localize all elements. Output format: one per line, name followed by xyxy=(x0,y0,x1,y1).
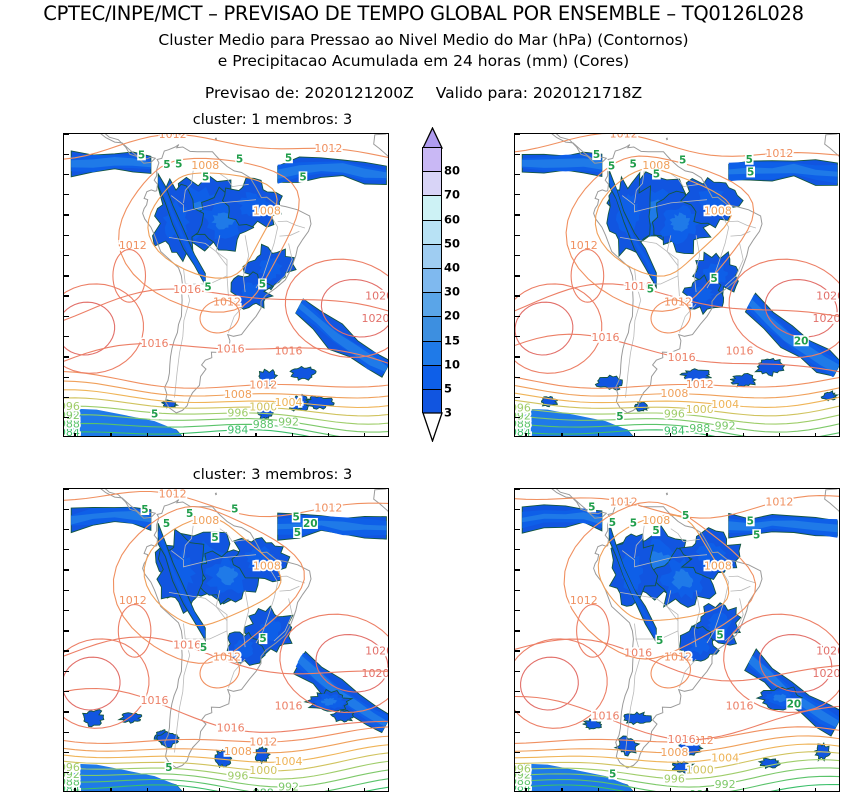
pressure-contour-label: 1012 xyxy=(765,147,793,160)
x-axis-tick xyxy=(634,433,635,437)
pressure-contour-label: 1008 xyxy=(704,560,732,573)
pressure-contour-label: 1012 xyxy=(610,495,638,508)
pressure-contour-label: 1012 xyxy=(765,495,793,508)
x-axis-tick xyxy=(110,788,111,792)
precip-contour-label: 5 xyxy=(588,501,595,513)
colorbar-segment xyxy=(423,196,441,220)
x-axis-tick xyxy=(147,788,148,792)
coastline-island xyxy=(215,493,216,495)
pressure-contour-label: 1016 xyxy=(173,638,201,651)
precip-contour-label: 5 xyxy=(141,504,148,516)
pressure-contour-label: 1020 xyxy=(816,290,840,303)
y-axis-tick xyxy=(515,711,520,712)
y-axis-tick xyxy=(64,154,69,155)
y-axis-tick xyxy=(64,711,69,712)
precip-contour-band xyxy=(730,373,756,386)
colorbar-segment xyxy=(423,221,441,245)
country-border xyxy=(731,586,751,591)
pressure-contour-1016 xyxy=(64,284,143,373)
coastline-africa xyxy=(825,489,840,517)
x-axis-tick xyxy=(292,788,293,792)
precip-contour-label: 5 xyxy=(231,504,238,516)
x-axis-tick xyxy=(779,433,780,437)
x-axis-tick xyxy=(183,788,184,792)
map-panel-cluster-1[interactable]: cluster: 1 membros: 39849849849849889889… xyxy=(63,133,389,437)
precip-contour-label: 5 xyxy=(608,160,615,172)
colorbar-tick-label: 50 xyxy=(444,238,460,250)
plot-area[interactable]: 9849849849849889889889889929929929929969… xyxy=(514,133,840,437)
y-axis-tick xyxy=(64,377,69,378)
precip-contour-label: 5 xyxy=(175,159,182,171)
y-axis-tick xyxy=(64,772,69,773)
plot-area[interactable]: 9849849849849889889889889929929929929969… xyxy=(63,133,389,437)
pressure-contour-label: 1012 xyxy=(686,378,714,391)
pressure-contour-label: 1020 xyxy=(362,312,389,325)
pressure-contour-label: 1016 xyxy=(275,699,303,712)
y-axis-tick xyxy=(64,569,69,570)
precipitation-colorbar: 80706050403020151053 xyxy=(422,127,492,455)
colorbar-over-arrow xyxy=(422,127,444,149)
y-axis-tick xyxy=(64,590,69,591)
x-axis-tick xyxy=(183,433,184,437)
precip-contour-label: 5 xyxy=(236,153,243,165)
y-axis-tick xyxy=(64,509,69,510)
pressure-contour-1016 xyxy=(571,250,604,303)
precip-contour-label: 5 xyxy=(747,167,754,179)
pressure-contour-1012 xyxy=(64,372,389,389)
pressure-contour-label: 1016 xyxy=(592,331,620,344)
pressure-contour-label: 1020 xyxy=(813,667,840,680)
y-axis-tick xyxy=(515,691,520,692)
y-axis-tick xyxy=(64,295,69,296)
x-axis-tick xyxy=(779,788,780,792)
pressure-contour-label: 996 xyxy=(664,407,685,420)
y-axis-tick xyxy=(515,255,520,256)
precip-contour-label: 5 xyxy=(652,525,659,537)
y-axis-tick xyxy=(64,214,69,215)
y-axis-tick xyxy=(515,154,520,155)
precip-contour-label: 5 xyxy=(211,532,218,544)
y-axis-tick xyxy=(64,610,69,611)
pressure-contour-label: 1016 xyxy=(275,344,303,357)
panel-title-cluster-1: cluster: 1 membros: 3 xyxy=(63,112,482,128)
valid-for-label: Valido para: 2020121718Z xyxy=(436,84,642,102)
pressure-contour-label: 1008 xyxy=(253,205,281,218)
x-axis-tick xyxy=(815,788,816,792)
pressure-contour-label: 1016 xyxy=(668,733,696,746)
precip-contour-label: 5 xyxy=(138,149,145,161)
y-axis-tick xyxy=(515,235,520,236)
y-axis-tick xyxy=(64,732,69,733)
y-axis-tick xyxy=(515,610,520,611)
pressure-contour-label: 1020 xyxy=(365,290,389,303)
y-axis-tick xyxy=(64,336,69,337)
y-axis-tick xyxy=(515,214,520,215)
y-axis-tick xyxy=(515,275,520,276)
precip-contour-band xyxy=(255,747,270,763)
y-axis-tick xyxy=(515,133,520,134)
y-axis-tick xyxy=(64,529,69,530)
y-axis-tick xyxy=(515,295,520,296)
colorbar-tick-label: 60 xyxy=(444,214,460,226)
pressure-contour-label: 1000 xyxy=(686,403,714,416)
pressure-contour-label: 1012 xyxy=(314,501,342,514)
colorbar-tick-label: 30 xyxy=(444,286,460,298)
y-axis-tick xyxy=(515,488,520,489)
x-axis-tick xyxy=(328,788,329,792)
x-axis-tick xyxy=(219,788,220,792)
y-axis-tick xyxy=(64,488,69,489)
pressure-contour-label: 1004 xyxy=(711,751,739,764)
y-axis-tick xyxy=(515,509,520,510)
colorbar-tick-label: 20 xyxy=(444,311,460,323)
pressure-contour-label: 1008 xyxy=(191,159,219,172)
coastline-island xyxy=(215,138,216,140)
pressure-contour-label: 992 xyxy=(278,416,299,429)
pressure-contour-label: 1008 xyxy=(224,745,252,758)
pressure-contour-label: 1000 xyxy=(249,764,277,777)
y-axis-tick xyxy=(515,356,520,357)
pressure-contour-label: 1016 xyxy=(726,699,754,712)
pressure-contour-label: 1016 xyxy=(141,694,169,707)
y-axis-tick xyxy=(64,356,69,357)
precip-contour-label: 5 xyxy=(200,642,207,654)
pressure-contour-label: 1004 xyxy=(711,398,739,411)
precip-contour-label: 5 xyxy=(204,281,211,293)
colorbar-tick-label: 70 xyxy=(444,190,460,202)
pressure-contour-1020 xyxy=(521,657,579,710)
x-axis-tick xyxy=(110,433,111,437)
x-axis-tick xyxy=(219,433,220,437)
precip-contour-label: 20 xyxy=(303,518,318,530)
country-border xyxy=(729,576,756,583)
pressure-contour-1016 xyxy=(113,250,146,303)
y-axis-tick xyxy=(64,255,69,256)
precip-contour-label: 5 xyxy=(647,284,654,296)
colorbar-tick-label: 10 xyxy=(444,359,460,371)
precip-contour-label: 5 xyxy=(593,149,600,161)
pressure-contour-label: 1012 xyxy=(249,735,277,748)
precip-contour-label: 5 xyxy=(294,527,301,539)
precip-contour-label: 5 xyxy=(285,152,292,164)
precip-contour-label: 5 xyxy=(630,517,637,529)
pressure-contour-label: 1016 xyxy=(592,709,620,722)
colorbar-segment xyxy=(423,342,441,366)
map-panel-cluster-3[interactable]: cluster: 3 membros: 39849849849849889889… xyxy=(63,488,389,792)
precip-contour-label: 5 xyxy=(259,279,266,291)
colorbar-segment xyxy=(423,293,441,317)
precip-contour-label: 5 xyxy=(609,517,616,529)
panel-title-cluster-3: cluster: 3 membros: 3 xyxy=(63,467,482,483)
pressure-contour-label: 996 xyxy=(515,401,531,414)
x-axis-tick xyxy=(743,788,744,792)
y-axis-tick xyxy=(64,133,69,134)
pressure-contour-label: 1012 xyxy=(159,489,187,501)
pressure-contour-label: 1020 xyxy=(362,667,389,680)
precip-contour-label: 5 xyxy=(630,158,637,170)
colorbar-segment xyxy=(423,317,441,341)
pressure-contour-label: 996 xyxy=(227,769,248,782)
colorbar-under-arrow xyxy=(422,412,444,442)
y-axis-tick xyxy=(515,549,520,550)
pressure-contour-label: 1012 xyxy=(610,134,638,141)
pressure-contour-label: 1016 xyxy=(217,342,245,355)
pressure-contour-label: 1004 xyxy=(275,755,303,768)
precip-contour-label: 5 xyxy=(609,768,616,780)
precip-contour-label: 20 xyxy=(787,698,802,710)
y-axis-tick xyxy=(64,691,69,692)
precip-contour-label: 5 xyxy=(716,629,723,641)
pressure-contour-label: 1012 xyxy=(249,378,277,391)
subtitle-line-2: e Precipitacao Acumulada em 24 horas (mm… xyxy=(0,52,847,70)
precip-contour-label: 5 xyxy=(151,409,158,421)
y-axis-tick xyxy=(64,174,69,175)
colorbar-tick-label: 3 xyxy=(444,407,452,419)
y-axis-tick xyxy=(515,397,520,398)
pressure-contour-label: 1008 xyxy=(704,205,732,218)
plot-area[interactable]: 9849849849849889889889889929929929929969… xyxy=(514,488,840,792)
pressure-contour-label: 1016 xyxy=(141,337,169,350)
precip-contour-band xyxy=(306,396,335,409)
pressure-contour-1020 xyxy=(515,302,573,355)
y-axis-tick xyxy=(515,194,520,195)
coastline-island xyxy=(666,493,667,495)
x-axis-tick xyxy=(525,433,526,437)
pressure-contour-label: 1016 xyxy=(624,647,652,660)
precip-contour-label: 5 xyxy=(747,515,754,527)
map-panel-cluster-2[interactable]: cluster: 2 membros: 59849849849849889889… xyxy=(514,133,840,437)
y-axis-tick xyxy=(515,590,520,591)
y-axis-tick xyxy=(515,336,520,337)
y-axis-tick xyxy=(515,732,520,733)
y-axis-tick xyxy=(64,235,69,236)
pressure-contour-label: 996 xyxy=(64,400,80,413)
pressure-contour-label: 1020 xyxy=(816,645,840,658)
precip-contour-label: 5 xyxy=(653,169,660,181)
pressure-contour-1016 xyxy=(577,605,610,658)
precip-contour-label: 5 xyxy=(299,171,306,183)
pressure-contour-label: 1016 xyxy=(726,344,754,357)
colorbar-segment xyxy=(423,269,441,293)
y-axis-tick xyxy=(64,397,69,398)
y-axis-tick xyxy=(515,316,520,317)
colorbar-segment xyxy=(423,148,441,172)
y-axis-tick xyxy=(515,752,520,753)
pressure-contours: 9849849849849889889889889929929929929969… xyxy=(64,134,389,437)
pressure-contour-label: 1012 xyxy=(159,134,187,141)
precip-contour-label: 5 xyxy=(679,155,686,167)
pressure-contour-label: 1008 xyxy=(253,560,281,573)
x-axis-tick xyxy=(561,433,562,437)
country-border xyxy=(731,231,751,236)
subtitle-line-1: Cluster Medio para Pressao ao Nivel Medi… xyxy=(0,31,847,49)
coastline-africa xyxy=(825,134,840,162)
y-axis-tick xyxy=(64,316,69,317)
y-axis-tick xyxy=(64,417,69,418)
colorbar-segment xyxy=(423,172,441,196)
x-axis-tick xyxy=(815,433,816,437)
y-axis-tick xyxy=(64,650,69,651)
pressure-contour-1016 xyxy=(515,284,602,373)
y-axis-tick xyxy=(64,194,69,195)
x-axis-tick xyxy=(743,433,744,437)
country-border xyxy=(278,576,305,583)
precip-contour-label: 5 xyxy=(682,510,689,522)
precip-contour-label: 5 xyxy=(163,518,170,530)
pressure-contour-label: 1008 xyxy=(660,746,688,759)
y-axis-tick xyxy=(515,650,520,651)
x-axis-tick xyxy=(255,788,256,792)
precip-contour-band xyxy=(83,710,104,727)
y-axis-tick xyxy=(515,630,520,631)
precip-contour-label: 5 xyxy=(616,411,623,423)
forecast-time-line: Previsao de: 2020121200ZValido para: 202… xyxy=(0,84,847,102)
precip-contour-label: 20 xyxy=(794,335,809,347)
coastline-africa xyxy=(374,134,389,162)
country-border xyxy=(278,221,305,228)
precip-contour-band xyxy=(290,366,316,380)
pressure-contour-label: 1000 xyxy=(686,763,714,776)
precip-contour-band xyxy=(755,358,784,376)
pressure-contour-label: 1008 xyxy=(191,514,219,527)
pressure-contour-label: 996 xyxy=(664,772,685,785)
pressure-contour-label: 1008 xyxy=(660,387,688,400)
pressure-contour-label: 1016 xyxy=(217,722,245,735)
x-axis-tick xyxy=(670,788,671,792)
precip-contour-label: 5 xyxy=(292,512,299,524)
y-axis-tick xyxy=(64,671,69,672)
pressure-contour-label: 992 xyxy=(715,419,736,432)
x-axis-tick xyxy=(706,433,707,437)
precip-contour-label: 5 xyxy=(163,159,170,171)
x-axis-tick xyxy=(634,788,635,792)
pressure-contour-label: 984 xyxy=(227,423,248,436)
y-axis-tick xyxy=(64,549,69,550)
y-axis-tick xyxy=(515,417,520,418)
pressure-contour-label: 992 xyxy=(278,780,299,792)
x-axis-tick xyxy=(74,433,75,437)
precip-contour-label: 5 xyxy=(753,529,760,541)
pressure-contour-label: 1012 xyxy=(314,142,342,155)
y-axis-tick xyxy=(64,275,69,276)
precip-contour-label: 5 xyxy=(165,762,172,774)
country-border xyxy=(729,221,756,228)
precip-contour-label: 5 xyxy=(202,172,209,184)
y-axis-tick xyxy=(515,377,520,378)
pressure-contour-label: 1008 xyxy=(224,388,252,401)
x-axis-tick xyxy=(255,433,256,437)
pressure-contour-label: 996 xyxy=(515,763,531,776)
colorbar-segment xyxy=(423,390,441,414)
y-axis-tick xyxy=(515,174,520,175)
precip-contour-label: 5 xyxy=(656,635,663,647)
x-axis-tick xyxy=(670,433,671,437)
x-axis-tick xyxy=(147,433,148,437)
pressure-contour-label: 992 xyxy=(715,778,736,791)
precip-contour-label: 5 xyxy=(186,508,193,520)
colorbar-segment xyxy=(423,245,441,269)
precip-contour-label: 5 xyxy=(259,633,266,645)
pressure-contour-label: 1016 xyxy=(173,283,201,296)
x-axis-tick xyxy=(364,788,365,792)
x-axis-tick xyxy=(74,788,75,792)
forecast-from-label: Previsao de: 2020121200Z xyxy=(205,84,414,102)
precip-contour-label: 5 xyxy=(746,154,753,166)
plot-area[interactable]: 9849849849849889889889889929929929929969… xyxy=(63,488,389,792)
y-axis-tick xyxy=(64,630,69,631)
map-panel-cluster-4[interactable]: cluster: 4 membros: 49849849849849889889… xyxy=(514,488,840,792)
precip-contour-band xyxy=(624,712,652,724)
colorbar-scale xyxy=(422,147,442,413)
x-axis-tick xyxy=(561,788,562,792)
x-axis-tick xyxy=(525,788,526,792)
y-axis-tick xyxy=(515,569,520,570)
pressure-contour-label: 996 xyxy=(227,406,248,419)
x-axis-tick xyxy=(364,433,365,437)
x-axis-tick xyxy=(598,433,599,437)
precip-contour-label: 5 xyxy=(710,273,717,285)
y-axis-tick xyxy=(515,529,520,530)
x-axis-tick xyxy=(706,788,707,792)
page-title: CPTEC/INPE/MCT – PREVISAO DE TEMPO GLOBA… xyxy=(0,2,847,25)
colorbar-tick-label: 5 xyxy=(444,383,452,395)
y-axis-tick xyxy=(515,772,520,773)
x-axis-tick xyxy=(292,433,293,437)
colorbar-tick-label: 15 xyxy=(444,335,460,347)
coastline-island xyxy=(666,138,667,140)
colorbar-segment xyxy=(423,366,441,390)
y-axis-tick xyxy=(515,671,520,672)
pressure-contour-1020 xyxy=(64,657,120,710)
colorbar-tick-label: 80 xyxy=(444,165,460,177)
x-axis-tick xyxy=(328,433,329,437)
country-border xyxy=(280,586,300,591)
pressure-contour-label: 1020 xyxy=(365,645,389,658)
pressure-contour-label: 1004 xyxy=(275,396,303,409)
pressure-contour-label: 1000 xyxy=(249,401,277,414)
colorbar-tick-label: 40 xyxy=(444,262,460,274)
y-axis-tick xyxy=(64,752,69,753)
x-axis-tick xyxy=(598,788,599,792)
pressure-contour-label: 1016 xyxy=(668,351,696,364)
